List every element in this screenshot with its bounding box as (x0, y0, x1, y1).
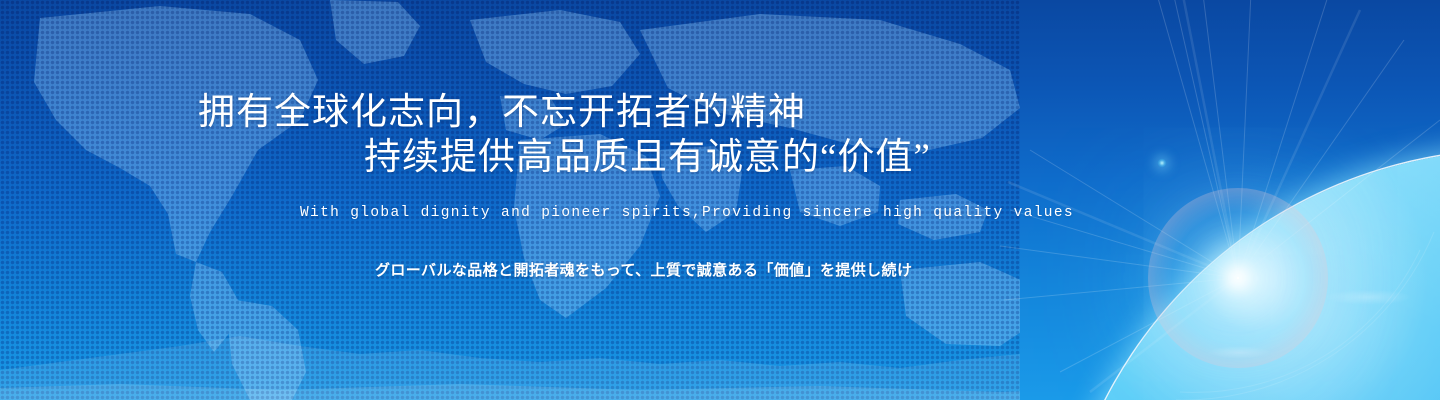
banner-text-block: 拥有全球化志向，不忘开拓者的精神 持续提供高品质且有诚意的“价值” With g… (0, 0, 1060, 400)
subtitle-japanese: グローバルな品格と開拓者魂をもって、上質で誠意ある「価値」を提供し続け (375, 259, 912, 280)
sun-glow (1237, 277, 1239, 279)
headline-line-1: 拥有全球化志向，不忘开拓者的精神 (198, 90, 806, 136)
subtitle-english: With global dignity and pioneer spirits,… (300, 205, 1074, 221)
headline-line-2: 持续提供高品质且有诚意的“价值” (364, 135, 931, 181)
lens-flare-dot (1158, 159, 1167, 168)
hero-banner: 拥有全球化志向，不忘开拓者的精神 持续提供高品质且有诚意的“价值” With g… (0, 0, 1440, 400)
